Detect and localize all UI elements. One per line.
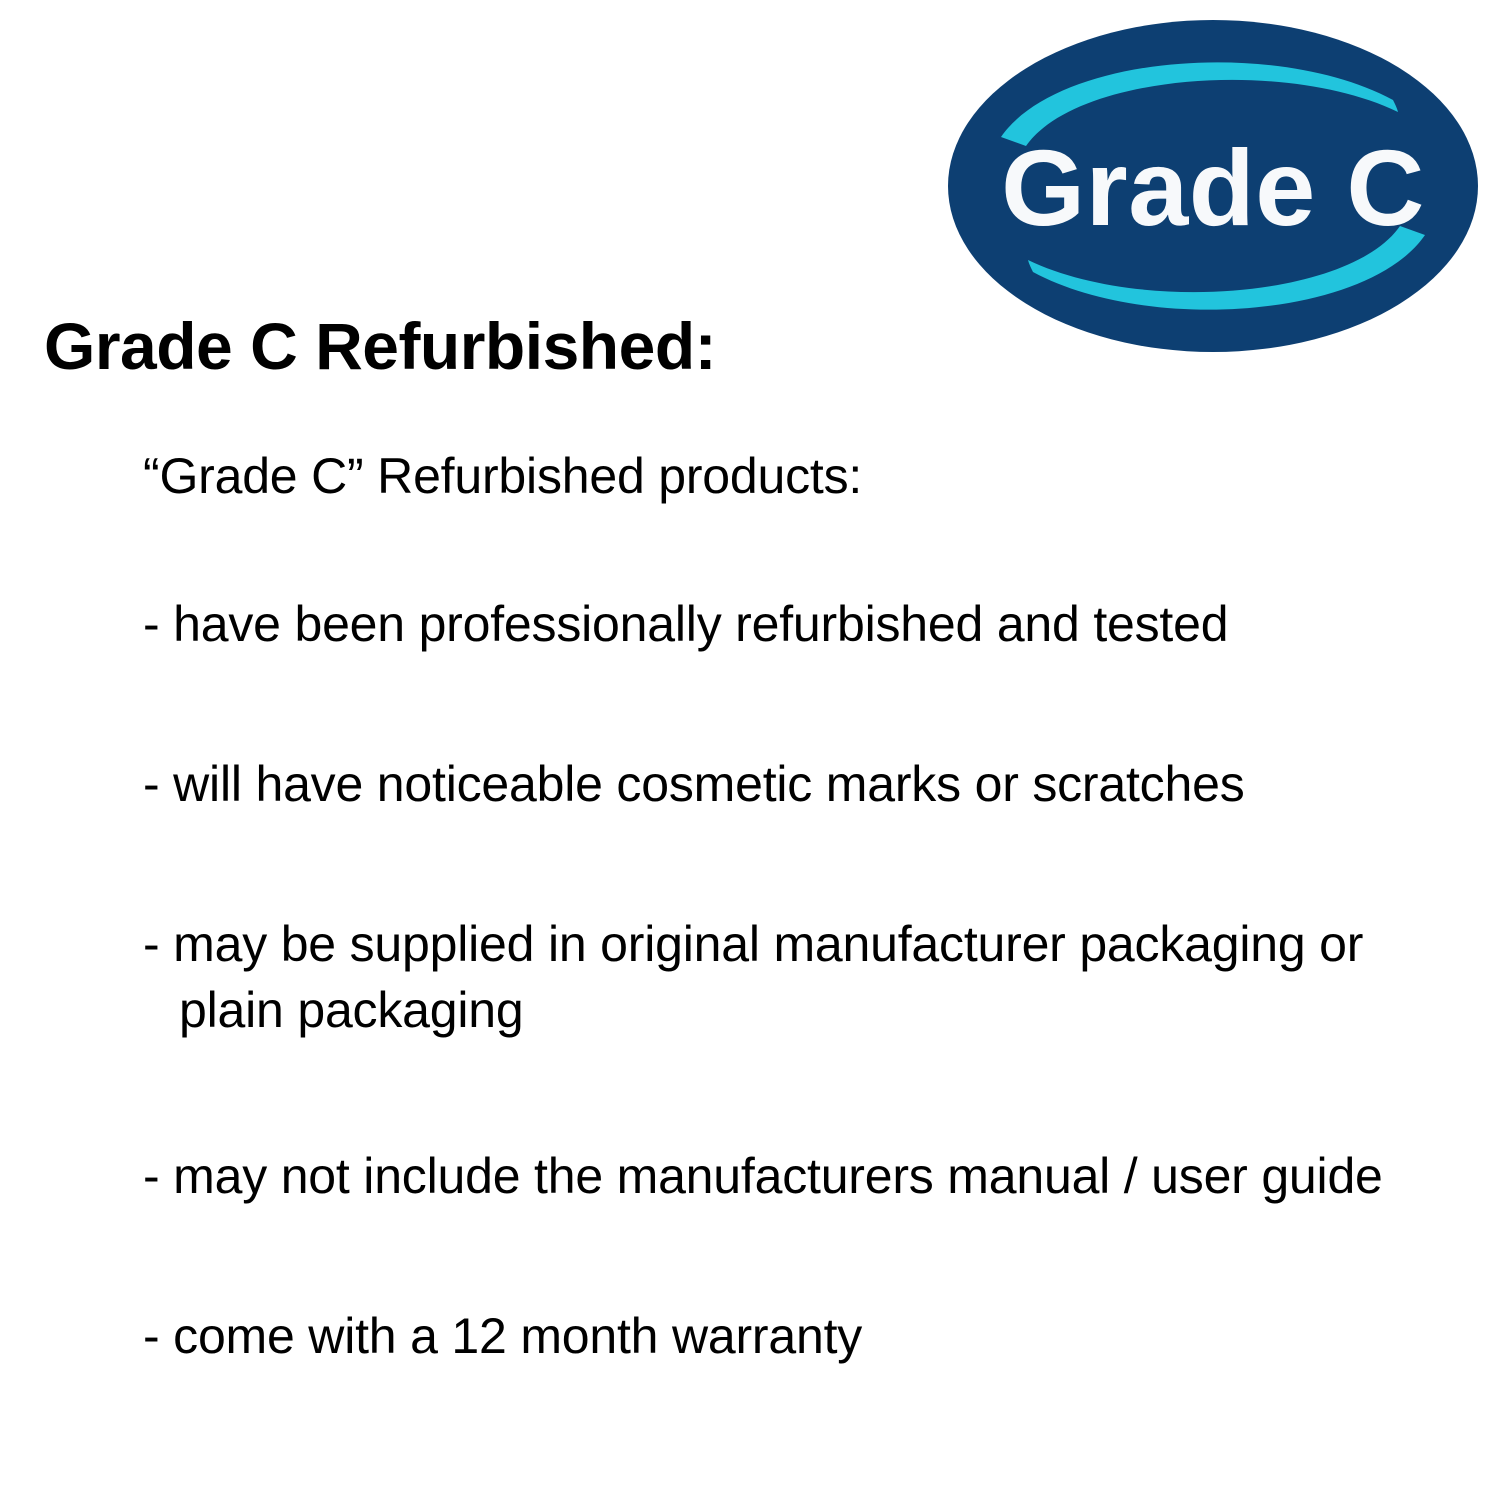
refurbished-description: “Grade C” Refurbished products: - have b… <box>143 448 1463 1364</box>
bullet-text: - may not include the manufacturers manu… <box>143 1148 1463 1204</box>
bullet-text: - have been professionally refurbished a… <box>143 596 1463 652</box>
list-item: - have been professionally refurbished a… <box>143 596 1463 756</box>
list-item: - may not include the manufacturers manu… <box>143 1148 1463 1308</box>
list-item: - come with a 12 month warranty <box>143 1308 1463 1364</box>
list-item: - may be supplied in original manufactur… <box>143 916 1463 1148</box>
intro-paragraph: “Grade C” Refurbished products: <box>143 448 1463 596</box>
page-title: Grade C Refurbished: <box>44 312 716 381</box>
intro-text: “Grade C” Refurbished products: <box>143 448 1463 504</box>
bullet-text: - come with a 12 month warranty <box>143 1308 1463 1364</box>
logo-wordmark: Grade C <box>1001 127 1425 248</box>
list-item: - will have noticeable cosmetic marks or… <box>143 756 1463 916</box>
bullet-text: - may be supplied in original manufactur… <box>143 916 1463 972</box>
grade-c-logo: Grade C <box>948 20 1478 352</box>
bullet-text-continuation: plain packaging <box>179 982 1463 1038</box>
bullet-text: - will have noticeable cosmetic marks or… <box>143 756 1463 812</box>
